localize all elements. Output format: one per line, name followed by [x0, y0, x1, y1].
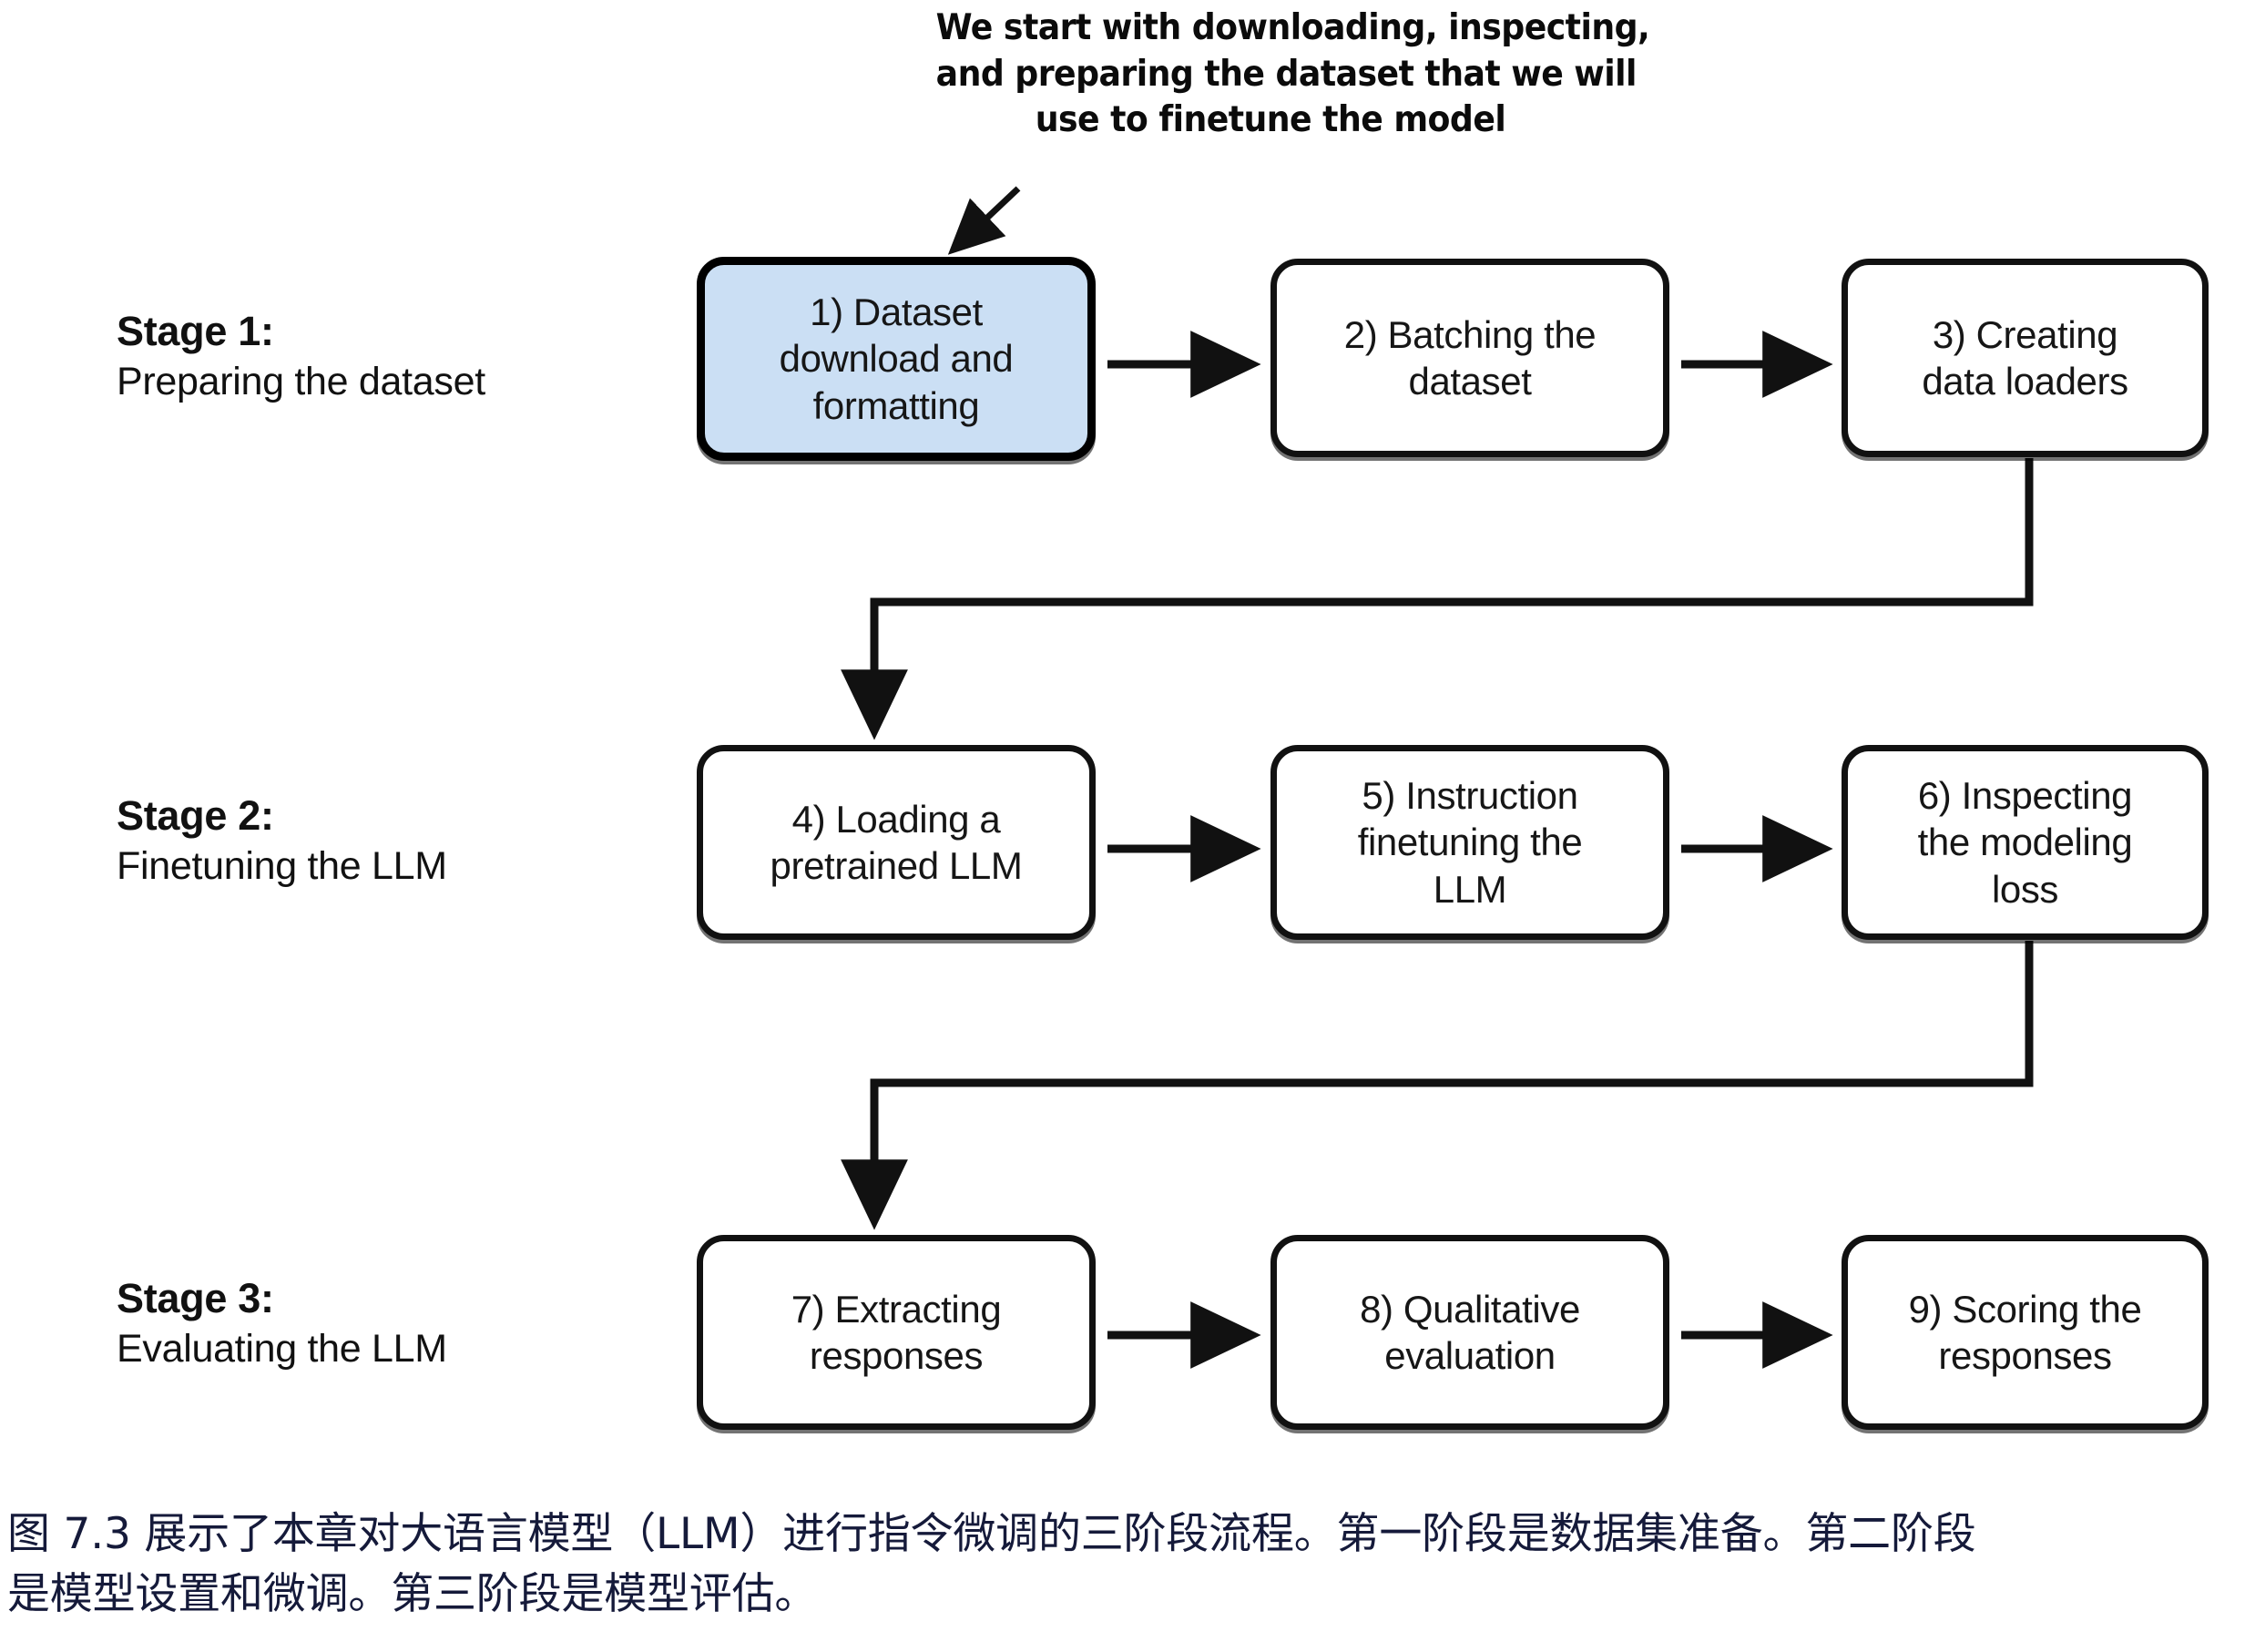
annotation-pointer-arrow-icon: [954, 189, 1018, 249]
annotation-line-2: and preparing the dataset that we will: [936, 52, 1606, 98]
flow-box-2-line-2: dataset: [1344, 358, 1597, 404]
flow-box-8-line-1: 8) Qualitative: [1360, 1286, 1580, 1332]
flow-box-1-dataset-download-and-formatting[interactable]: 1) Dataset download and formatting: [697, 257, 1096, 461]
flow-box-2-line-1: 2) Batching the: [1344, 311, 1597, 358]
flow-box-3-line-1: 3) Creating: [1922, 311, 2127, 358]
flow-box-2-batching-the-dataset[interactable]: 2) Batching the dataset: [1270, 259, 1669, 457]
stage-3-title: Stage 3:: [117, 1275, 681, 1322]
figure-caption-line-2: 是模型设置和微调。第三阶段是模型评估。: [7, 1565, 2248, 1625]
flow-box-4-loading-a-pretrained-llm[interactable]: 4) Loading a pretrained LLM: [697, 745, 1096, 940]
flow-box-8-line-2: evaluation: [1360, 1332, 1580, 1379]
flow-box-8-qualitative-evaluation[interactable]: 8) Qualitative evaluation: [1270, 1235, 1669, 1430]
flow-box-6-line-3: loss: [1918, 866, 2133, 913]
stage-2-title: Stage 2:: [117, 792, 681, 840]
stage-label-3: Stage 3: Evaluating the LLM: [117, 1275, 681, 1372]
flow-box-6-line-2: the modeling: [1918, 819, 2133, 865]
stage-3-subtitle: Evaluating the LLM: [117, 1326, 681, 1372]
flow-box-1-line-1: 1) Dataset: [780, 289, 1014, 335]
arrow-box6-to-box7: [874, 941, 2029, 1219]
flow-box-5-line-3: LLM: [1358, 866, 1583, 913]
flow-box-1-line-3: formatting: [780, 382, 1014, 429]
flow-box-6-inspecting-the-modeling-loss[interactable]: 6) Inspecting the modeling loss: [1842, 745, 2209, 940]
flow-box-5-instruction-finetuning-the-llm[interactable]: 5) Instruction finetuning the LLM: [1270, 745, 1669, 940]
stage-label-1: Stage 1: Preparing the dataset: [117, 308, 681, 405]
flow-box-3-line-2: data loaders: [1922, 358, 2127, 404]
stage-2-subtitle: Finetuning the LLM: [117, 843, 681, 890]
stage-1-subtitle: Preparing the dataset: [117, 359, 681, 405]
flow-box-3-creating-data-loaders[interactable]: 3) Creating data loaders: [1842, 259, 2209, 457]
arrow-box3-to-box4: [874, 458, 2029, 729]
stage-1-title: Stage 1:: [117, 308, 681, 355]
flow-box-9-scoring-the-responses[interactable]: 9) Scoring the responses: [1842, 1235, 2209, 1430]
flow-box-5-line-1: 5) Instruction: [1358, 772, 1583, 819]
figure-caption-line-1: 图 7.3 展示了本章对大语言模型（LLM）进行指令微调的三阶段流程。第一阶段是…: [7, 1504, 2248, 1565]
flow-box-6-line-1: 6) Inspecting: [1918, 772, 2133, 819]
annotation-line-3: use to finetune the model: [936, 97, 1606, 144]
annotation-callout: We start with downloading, inspecting, a…: [936, 5, 1606, 144]
flow-box-9-line-2: responses: [1909, 1332, 2142, 1379]
flow-box-7-line-1: 7) Extracting: [791, 1286, 1002, 1332]
flow-box-5-line-2: finetuning the: [1358, 819, 1583, 865]
flow-box-4-line-1: 4) Loading a: [770, 796, 1023, 842]
flow-box-7-line-2: responses: [791, 1332, 1002, 1379]
flow-box-7-extracting-responses[interactable]: 7) Extracting responses: [697, 1235, 1096, 1430]
flow-box-1-line-2: download and: [780, 335, 1014, 382]
stage-label-2: Stage 2: Finetuning the LLM: [117, 792, 681, 890]
figure-flowchart: We start with downloading, inspecting, a…: [0, 0, 2255, 1652]
annotation-line-1: We start with downloading, inspecting,: [936, 5, 1606, 52]
flow-box-9-line-1: 9) Scoring the: [1909, 1286, 2142, 1332]
figure-caption: 图 7.3 展示了本章对大语言模型（LLM）进行指令微调的三阶段流程。第一阶段是…: [7, 1504, 2248, 1625]
flow-box-4-line-2: pretrained LLM: [770, 842, 1023, 889]
